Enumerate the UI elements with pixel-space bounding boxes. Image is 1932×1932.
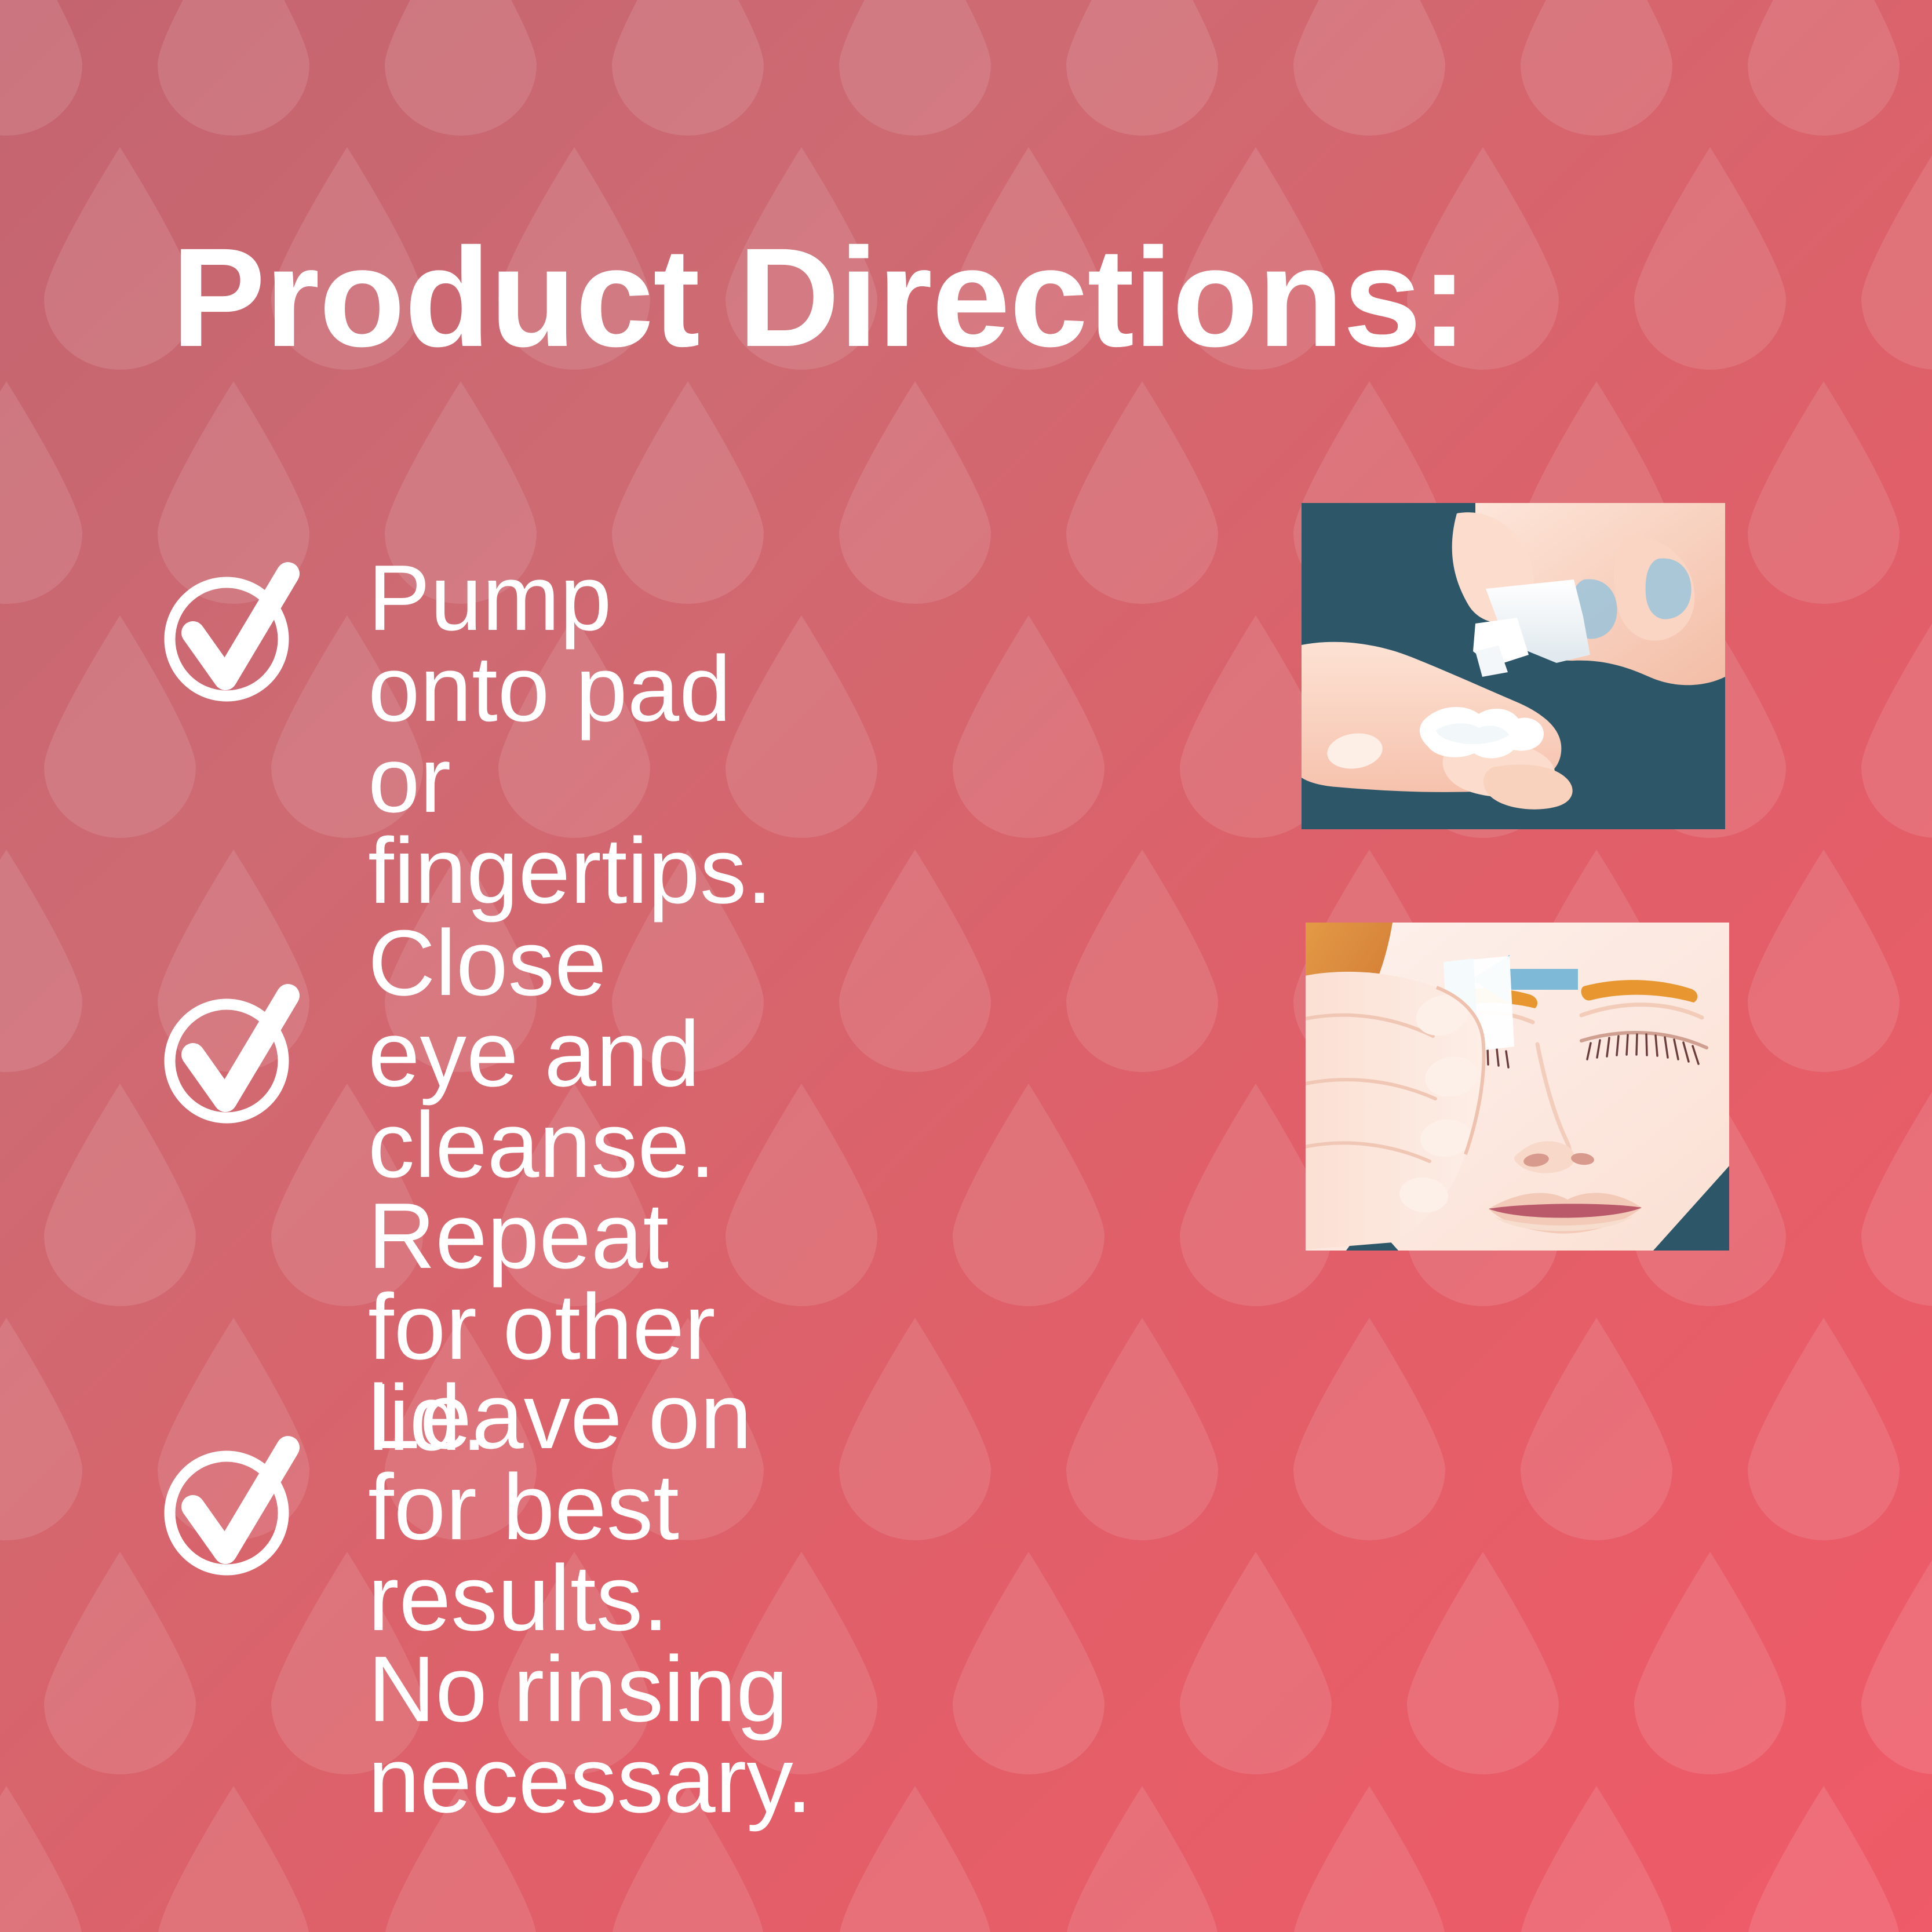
check-circle-icon — [160, 982, 305, 1127]
pump-onto-fingertips-illustration — [1302, 503, 1725, 829]
list-item-label: Pump onto pad or fingertips. — [368, 553, 772, 917]
list-item-label: Leave on for best results. No rinsing ne… — [368, 1371, 812, 1826]
check-circle-icon — [160, 1434, 305, 1579]
check-circle-icon — [160, 560, 305, 705]
cleanse-eyelid-illustration — [1306, 923, 1729, 1251]
product-directions-graphic: Product Directions: Pump onto pad or fin… — [0, 0, 1932, 1932]
